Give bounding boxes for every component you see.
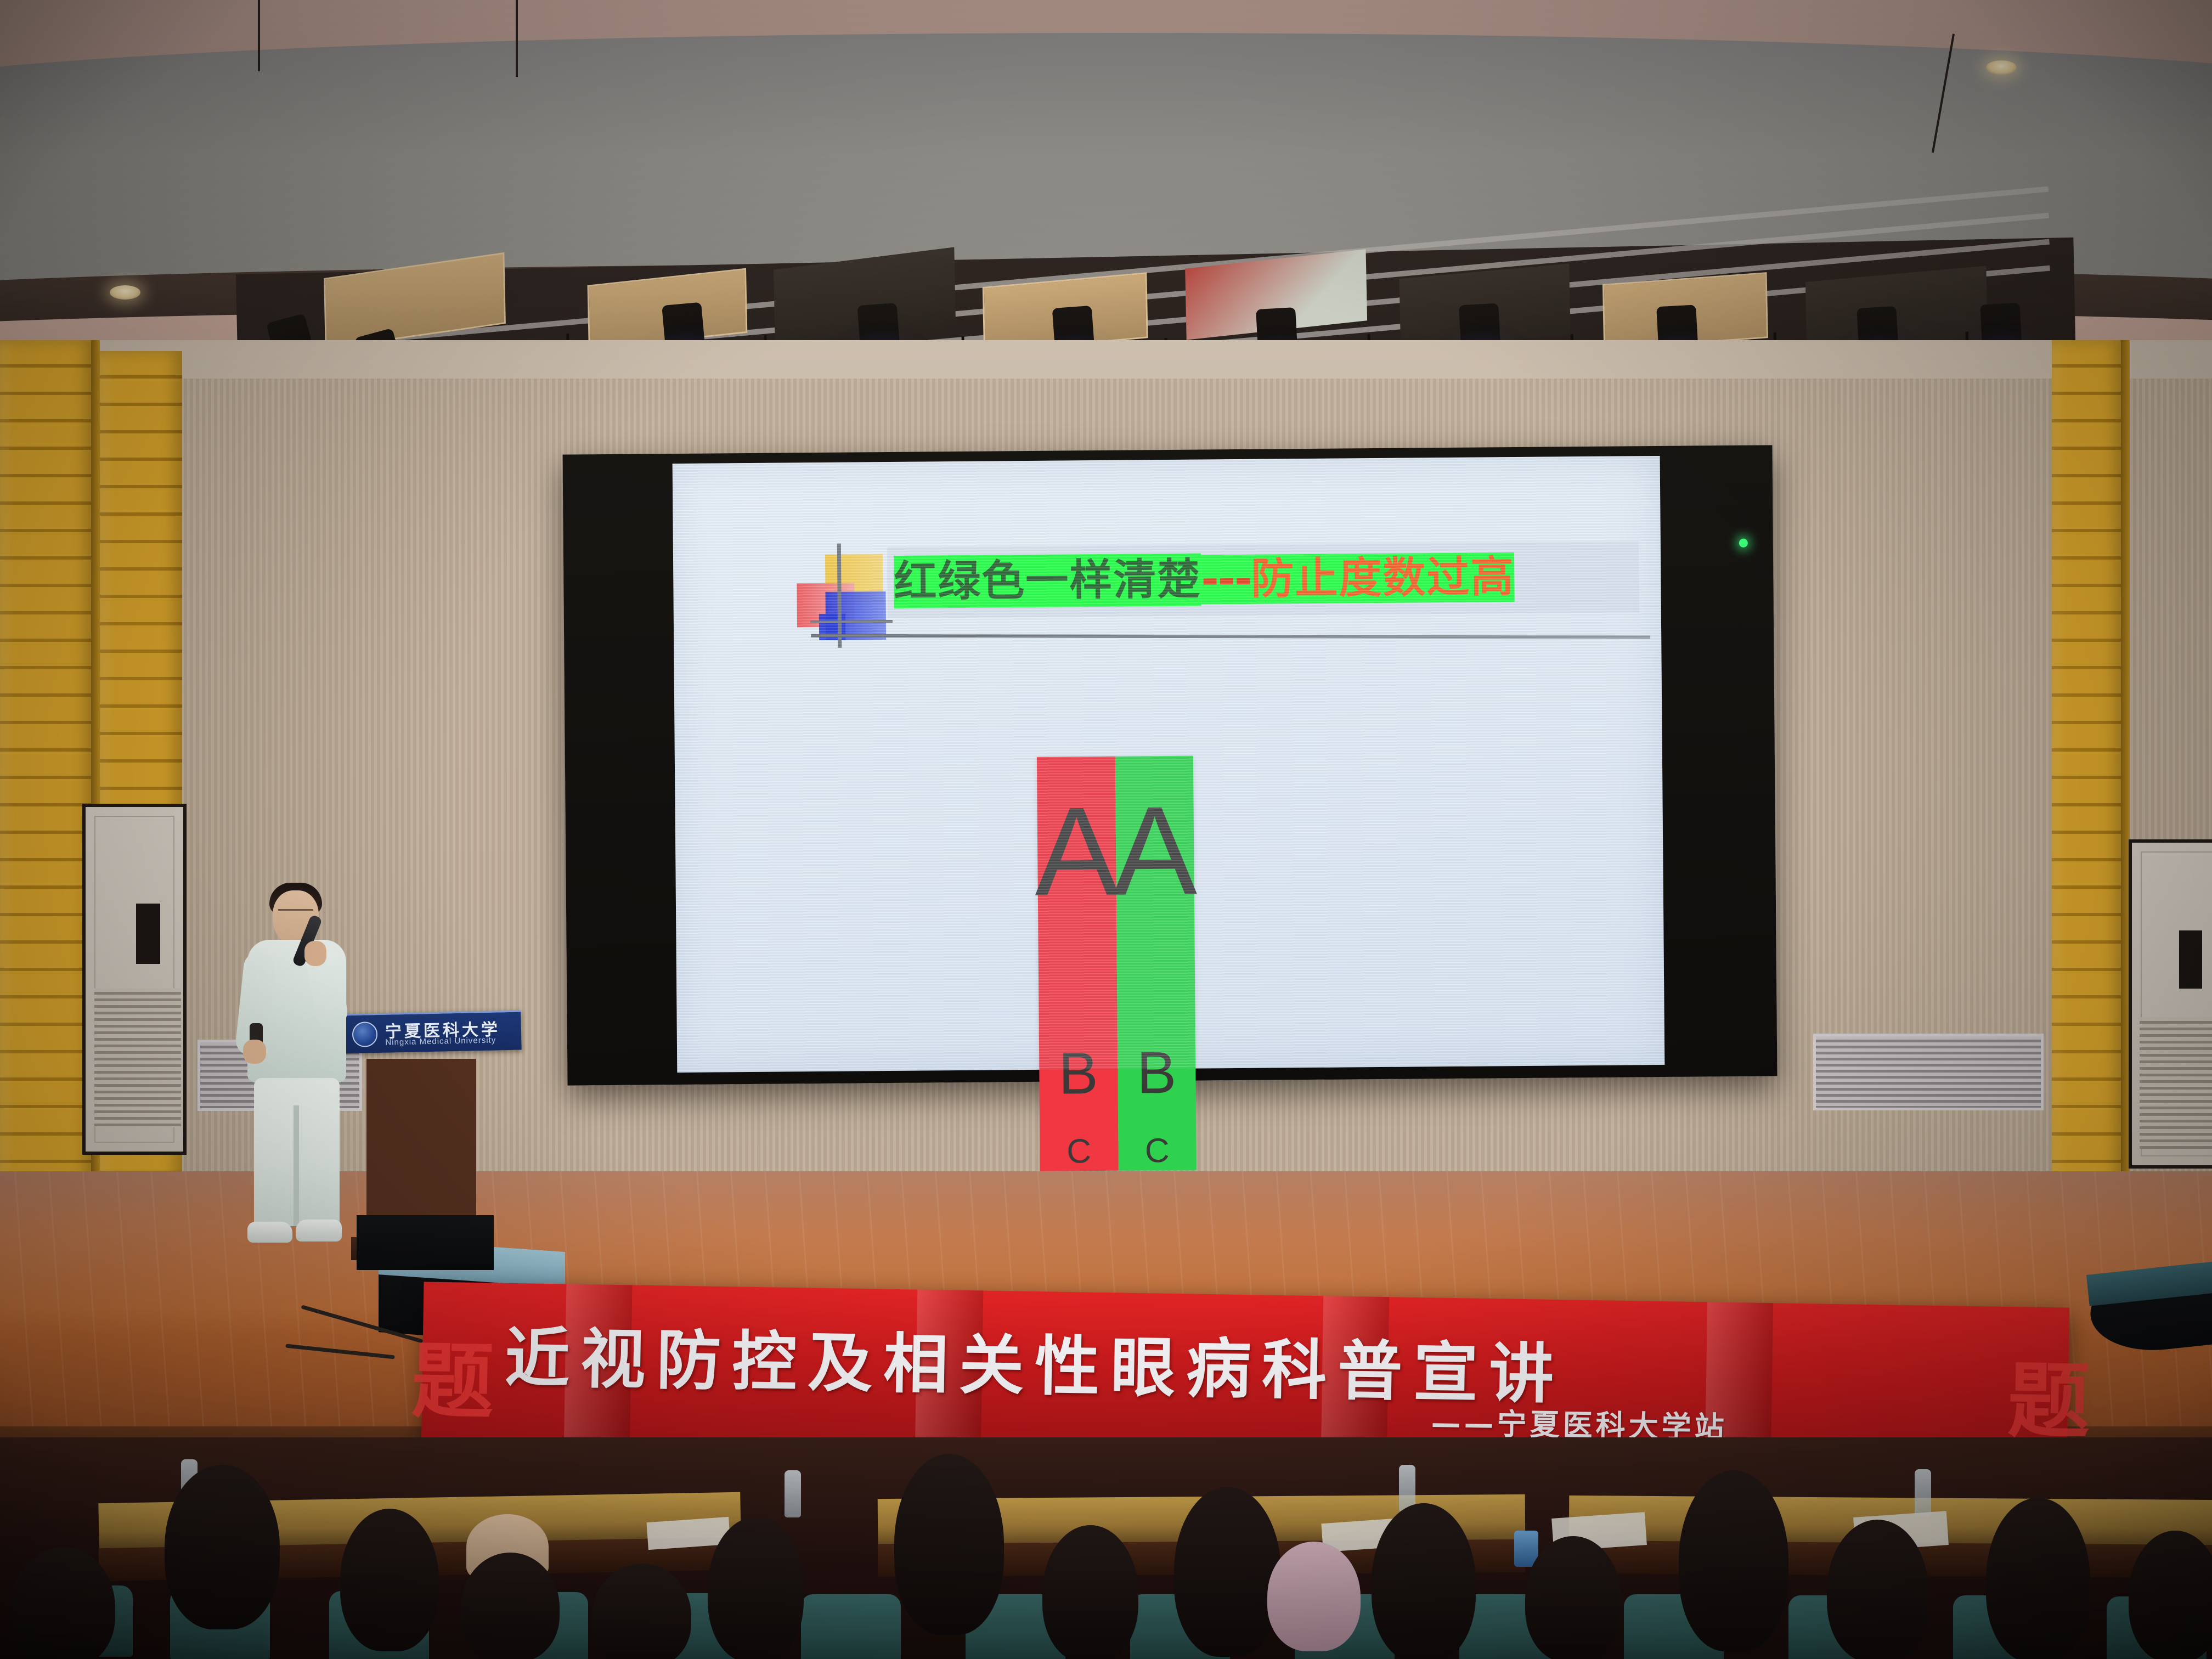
door-louver-vent xyxy=(94,988,181,1127)
presenter-left-hand xyxy=(243,1040,266,1064)
audience-head xyxy=(461,1553,560,1659)
slide-title-rule xyxy=(811,634,1650,639)
door-louver-vent xyxy=(2140,1017,2212,1149)
slide-title-block: 红绿色一样清楚---防止度数过高 xyxy=(887,541,1639,618)
ceiling-wire xyxy=(516,0,518,77)
logo-vertical-line xyxy=(837,544,842,648)
projection-screen-frame: 红绿色一样清楚---防止度数过高 A B C A B C xyxy=(563,445,1778,1085)
presenter-left-shoe xyxy=(247,1222,292,1243)
red-panel-letter-c: C xyxy=(1066,1135,1091,1169)
auditorium-scene: 红绿色一样清楚---防止度数过高 A B C A B C xyxy=(0,0,2212,1659)
red-panel-letter-b: B xyxy=(1058,1043,1098,1103)
water-bottle xyxy=(785,1470,801,1517)
audience-head xyxy=(592,1564,691,1659)
left-wall-pillar xyxy=(0,340,93,1251)
presenter-speaker xyxy=(228,875,365,1254)
banner-edge-char-left: 题 xyxy=(410,1314,494,1435)
door-vision-window xyxy=(2179,930,2202,989)
nameplate-english-name: Ningxia Medical University xyxy=(385,1036,496,1047)
duochrome-green-panel: A B C xyxy=(1115,756,1196,1171)
slide-title-orange-part: 防止度数过高 xyxy=(1251,552,1515,604)
green-panel-letter-b: B xyxy=(1137,1043,1177,1103)
audience-area xyxy=(0,1437,2212,1659)
audience-head xyxy=(1679,1470,1788,1651)
right-wall-service-door[interactable] xyxy=(2129,839,2212,1169)
duochrome-red-panel: A B C xyxy=(1037,757,1118,1171)
banner-edge-char-right: 题 xyxy=(2007,1334,2091,1454)
audience-head xyxy=(708,1517,804,1659)
green-panel-letter-a: A xyxy=(1112,788,1197,915)
audience-head-with-cap xyxy=(1267,1542,1361,1651)
ceiling-wire xyxy=(258,0,260,71)
presenter-leg-split xyxy=(294,1105,299,1226)
audience-head xyxy=(1174,1487,1281,1657)
audience-head xyxy=(340,1509,439,1651)
water-bottle xyxy=(1915,1469,1931,1516)
right-wall-pillar xyxy=(2052,340,2123,1218)
slide-title-green-part: 红绿色一样清楚 xyxy=(894,554,1201,608)
green-panel-letter-c: C xyxy=(1145,1134,1170,1168)
audience-head xyxy=(11,1547,115,1659)
screen-power-led-icon xyxy=(1739,539,1748,548)
ceiling-downlight xyxy=(1986,60,2017,75)
presenter-right-shoe xyxy=(296,1220,342,1242)
audience-head xyxy=(894,1454,1004,1635)
door-vision-window xyxy=(136,904,160,964)
slide-title: 红绿色一样清楚---防止度数过高 xyxy=(894,551,1515,608)
stage-monitor-speaker-back xyxy=(357,1215,494,1270)
presenter-glasses xyxy=(278,909,313,917)
presenter-right-hand xyxy=(304,941,326,966)
left-wall-service-door[interactable] xyxy=(82,804,187,1155)
duochrome-red-green-test: A B C A B C xyxy=(1037,756,1197,1171)
auditorium-seat xyxy=(801,1594,901,1659)
audience-head xyxy=(165,1465,280,1629)
slide-decor-logo xyxy=(797,543,888,648)
ceiling-downlight xyxy=(110,285,140,300)
audience-head xyxy=(1525,1536,1621,1659)
audience-head xyxy=(1986,1498,2090,1659)
red-panel-letter-a: A xyxy=(1034,788,1119,915)
audience-head xyxy=(1372,1503,1476,1659)
audience-head xyxy=(1827,1520,1928,1659)
slide-title-dash: --- xyxy=(1201,555,1251,605)
projection-screen-surface: 红绿色一样清楚---防止度数过高 A B C A B C xyxy=(673,456,1665,1073)
floor-hvac-vent xyxy=(1813,1034,2044,1110)
podium-nameplate: 宁夏医科大学 Ningxia Medical University xyxy=(340,1011,521,1054)
audience-head xyxy=(1042,1525,1138,1659)
